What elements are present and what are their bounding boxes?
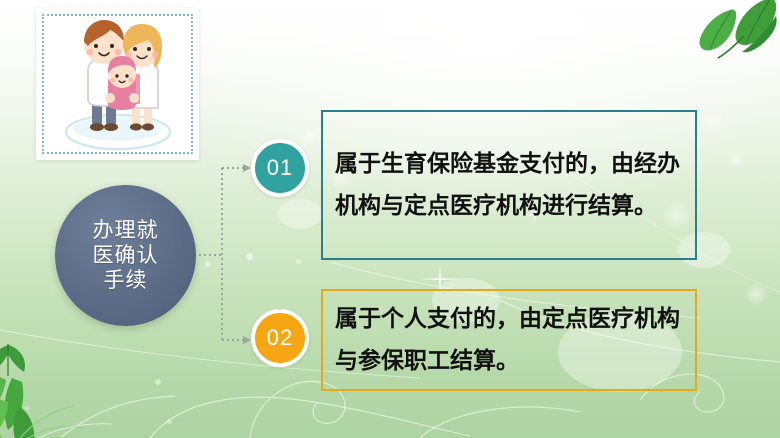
badge-02[interactable]: 02: [251, 309, 309, 367]
content-box-02-text: 属于个人支付的，由定点医疗机构与参保职工结算。: [335, 298, 685, 382]
arrow-head: [243, 336, 251, 344]
badge-02-label: 02: [267, 327, 293, 349]
badge-01[interactable]: 01: [251, 139, 309, 197]
content-box-01[interactable]: 属于生育保险基金支付的，由经办机构与定点医疗机构进行结算。: [321, 110, 697, 260]
badge-01-label: 01: [267, 157, 293, 179]
main-node-circle[interactable]: 办理就 医确认 手续: [55, 185, 196, 326]
arrow-head: [243, 164, 251, 172]
content-box-01-text: 属于生育保险基金支付的，由经办机构与定点医疗机构进行结算。: [335, 143, 685, 227]
content-box-02[interactable]: 属于个人支付的，由定点医疗机构与参保职工结算。: [321, 289, 697, 391]
slide-canvas: 办理就 医确认 手续 01 02 属于生育保险基金支付的，由经办机构与定点医疗机…: [0, 0, 780, 438]
main-node-label: 办理就 医确认 手续: [93, 218, 159, 293]
